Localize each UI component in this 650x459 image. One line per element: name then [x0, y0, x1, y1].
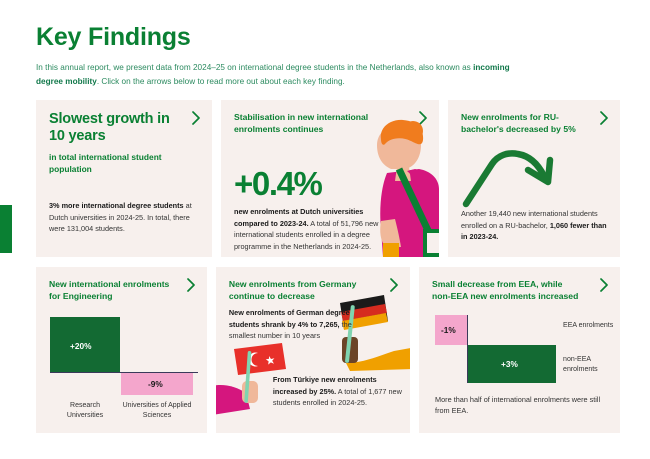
- card-eea[interactable]: Small decrease from EEA, while non-EEA n…: [419, 267, 620, 433]
- bar-value-non-eea-enrolments: +3%: [501, 359, 518, 369]
- card-subtitle: in total international student populatio…: [49, 152, 182, 176]
- germany-body: New enrolments of German degree students…: [229, 307, 357, 342]
- stat-value: +0.4%: [234, 167, 322, 200]
- key-findings-infographic: Key Findings In this annual report, we p…: [0, 0, 650, 459]
- turkiye-body: From Türkiye new enrolments increased by…: [273, 374, 405, 409]
- bar-category-universities-applied-sciences: Universities of Applied Sciences: [120, 401, 194, 421]
- bar-value-universities-applied-sciences: -9%: [148, 379, 163, 389]
- card-title: Slowest growth in 10 years: [49, 111, 176, 146]
- bar-value-research-universities: +20%: [70, 341, 91, 351]
- chevron-right-icon[interactable]: [191, 111, 201, 125]
- card-ru-bachelor[interactable]: New enrolments for RU-bachelor's decreas…: [448, 100, 620, 257]
- bar-value-eea-enrolments: -1%: [441, 325, 456, 335]
- legend-eea-enrolments: EEA enrolments: [563, 321, 615, 331]
- engineering-enrolments-chart: +20% -9% Research Universities Universit…: [50, 317, 200, 425]
- chevron-right-icon[interactable]: [389, 278, 399, 292]
- card-body-bold: 3% more international degree students: [49, 201, 184, 210]
- card-body: 3% more international degree students at…: [49, 200, 201, 235]
- chevron-right-icon[interactable]: [599, 111, 609, 125]
- intro-text-part1: In this annual report, we present data f…: [36, 63, 473, 72]
- student-with-bag-illustration: [347, 117, 439, 257]
- card-title: New international enrolments for Enginee…: [49, 278, 172, 303]
- card-germany[interactable]: New enrolments from Germany continue to …: [216, 267, 410, 433]
- germany-body-bold: New enrolments of German degree students…: [229, 308, 350, 329]
- card-body: Another 19,440 new international student…: [461, 208, 607, 243]
- bar-category-research-universities: Research Universities: [52, 401, 118, 421]
- chevron-right-icon[interactable]: [186, 278, 196, 292]
- findings-row-bottom: New international enrolments for Enginee…: [36, 267, 620, 433]
- eea-non-eea-chart: -1% +3% EEA enrolments non-EEA enrolment…: [435, 315, 615, 393]
- page-intro: In this annual report, we present data f…: [36, 61, 516, 88]
- card-footer: More than half of international enrolmen…: [435, 394, 603, 417]
- page-header: Key Findings In this annual report, we p…: [36, 24, 536, 88]
- card-engineering[interactable]: New international enrolments for Enginee…: [36, 267, 207, 433]
- card-slowest-growth[interactable]: Slowest growth in 10 years in total inte…: [36, 100, 212, 257]
- findings-row-top: Slowest growth in 10 years in total inte…: [36, 100, 620, 257]
- curved-down-arrow-illustration: [462, 142, 582, 210]
- findings-grid: Slowest growth in 10 years in total inte…: [36, 100, 620, 433]
- chevron-right-icon[interactable]: [599, 278, 609, 292]
- card-stabilisation[interactable]: Stabilisation in new international enrol…: [221, 100, 439, 257]
- left-edge-accent-tab: [0, 205, 12, 253]
- intro-text-part2: . Click on the arrows below to read more…: [97, 77, 345, 86]
- card-title: Small decrease from EEA, while non-EEA n…: [432, 278, 580, 303]
- legend-non-eea-enrolments: non-EEA enrolments: [563, 355, 619, 375]
- page-title: Key Findings: [36, 24, 536, 50]
- card-title: New enrolments for RU-bachelor's decreas…: [461, 111, 584, 136]
